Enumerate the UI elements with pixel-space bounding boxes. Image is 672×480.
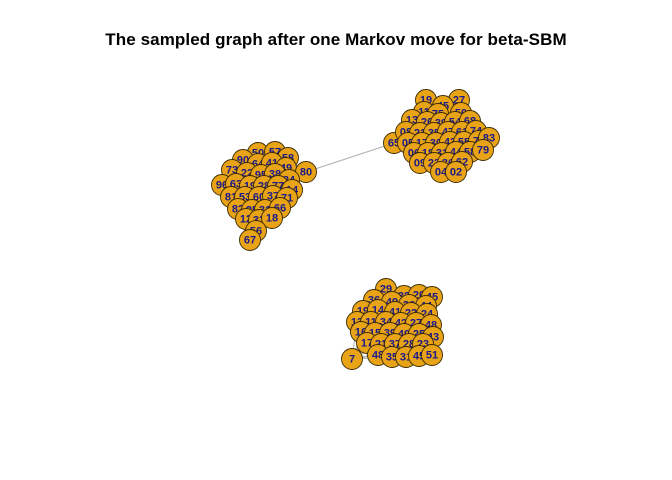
node-label: 79 <box>477 145 489 157</box>
node-label: 18 <box>266 213 278 225</box>
node-label: 67 <box>244 235 256 247</box>
node-label: 80 <box>300 167 312 179</box>
graph-node[interactable]: 67 <box>240 230 261 251</box>
plot-canvas: The sampled graph after one Markov move … <box>0 0 672 480</box>
network-graph: 5057589064414980732295388496631928771481… <box>0 0 672 480</box>
node-label: 7 <box>349 354 355 366</box>
graph-node[interactable]: 79 <box>473 140 494 161</box>
graph-node[interactable]: 7 <box>342 349 363 370</box>
nodes-layer: 5057589064414980732295388496631928771481… <box>212 90 500 370</box>
node-label: 51 <box>426 350 438 362</box>
bridge-edge <box>306 143 394 172</box>
graph-node[interactable]: 02 <box>446 162 467 183</box>
graph-node[interactable]: 51 <box>422 345 443 366</box>
node-label: 02 <box>450 167 462 179</box>
